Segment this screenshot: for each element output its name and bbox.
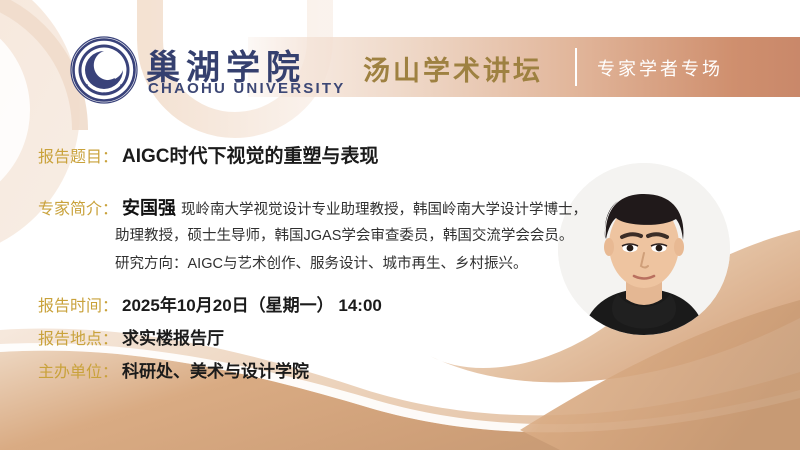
- organizer-row: 主办单位： 科研处、美术与设计学院: [38, 357, 309, 382]
- banner-title: 汤山学术讲坛: [363, 49, 543, 88]
- report-time-value: 2025年10月20日（星期一） 14:00: [122, 291, 382, 316]
- report-title-label: 报告题目：: [38, 143, 118, 167]
- speaker-bio-label: 专家简介：: [38, 195, 118, 219]
- speaker-bio-line-2: 助理教授，硕士生导师，韩国JGAS学会审查委员，韩国交流学会会员。: [115, 224, 573, 245]
- report-title-value: AIGC时代下视觉的重塑与表现: [122, 141, 379, 168]
- speaker-bio-line-3: 研究方向：AIGC与艺术创作、服务设计、城市再生、乡村振兴。: [115, 252, 527, 273]
- poster-root: 巢湖学院 CHAOHU UNIVERSITY 汤山学术讲坛 专家学者专场: [0, 0, 800, 450]
- report-place-row: 报告地点： 求实楼报告厅: [38, 324, 224, 349]
- university-name-en: CHAOHU UNIVERSITY: [148, 80, 345, 97]
- chaohu-university-emblem-icon: [70, 36, 138, 104]
- report-place-label: 报告地点：: [38, 325, 118, 349]
- banner-subtitle: 专家学者专场: [597, 55, 723, 81]
- organizer-value: 科研处、美术与设计学院: [122, 357, 309, 382]
- speaker-bio-line-1: 现岭南大学视觉设计专业助理教授，韩国岭南大学设计学博士，: [181, 198, 587, 219]
- banner-divider: [575, 48, 577, 86]
- organizer-label: 主办单位：: [38, 358, 118, 382]
- speaker-bio-row: 专家简介： 安国强 现岭南大学视觉设计专业助理教授，韩国岭南大学设计学博士，: [38, 194, 587, 220]
- report-time-row: 报告时间： 2025年10月20日（星期一） 14:00: [38, 291, 382, 316]
- report-time-label: 报告时间：: [38, 292, 118, 316]
- speaker-portrait: [558, 163, 730, 335]
- speaker-name: 安国强: [122, 194, 176, 220]
- report-title-row: 报告题目： AIGC时代下视觉的重塑与表现: [38, 141, 379, 168]
- report-place-value: 求实楼报告厅: [122, 324, 224, 349]
